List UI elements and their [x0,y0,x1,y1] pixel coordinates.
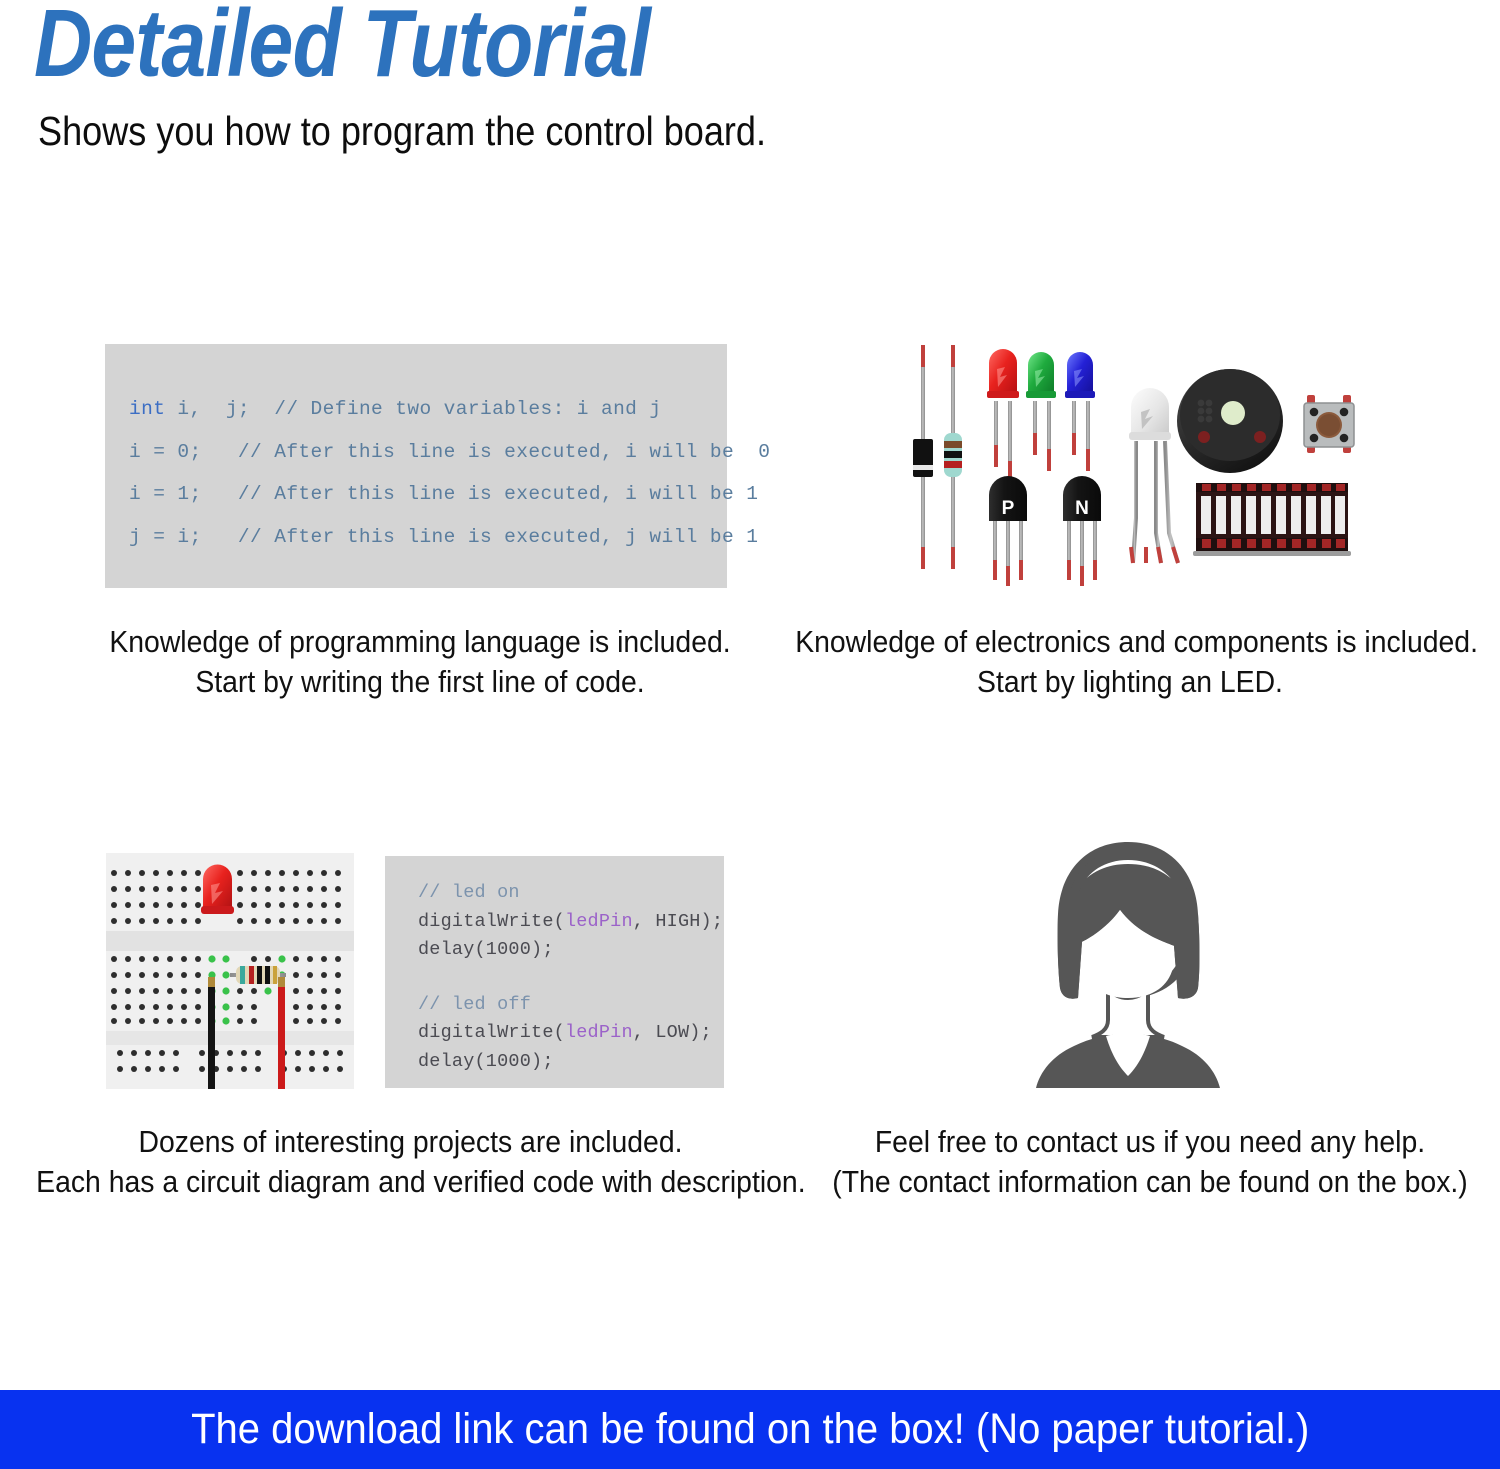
code-line: int i, j; // Define two variables: i and… [129,388,727,431]
code-line: // led on [418,879,724,908]
code-line: delay(1000); [418,1048,724,1077]
transistor-label-n: N [1075,498,1089,519]
caption-support: Feel free to contact us if you need any … [805,1122,1495,1202]
red-jumper-wire [278,977,285,1089]
download-link-banner: The download link can be found on the bo… [0,1390,1500,1469]
blue-led-icon [1065,352,1095,471]
pnp-transistor-icon: P [989,476,1027,586]
code-text: , LOW); [633,1022,712,1043]
caption-line: Knowledge of programming language is inc… [85,622,755,662]
code-text: delay(1000); [418,939,554,960]
code-line: // led off [418,991,724,1020]
caption-line: Dozens of interesting projects are inclu… [36,1122,785,1162]
caption-line: Feel free to contact us if you need any … [829,1122,1471,1162]
led-bar-graph-icon [1193,483,1351,556]
code-line: digitalWrite(ledPin, HIGH); [418,908,724,937]
breadboard-red-led-icon [201,865,234,915]
code-variable: ledPin [565,1022,633,1043]
caption-line: Each has a circuit diagram and verified … [36,1162,785,1202]
code-comment: // led on [418,882,520,903]
caption-line: (The contact information can be found on… [829,1162,1471,1202]
resistor-icon [944,345,962,569]
code-text: i = 1; // After this line is executed, i… [129,483,758,505]
download-banner-text: The download link can be found on the bo… [191,1405,1309,1454]
code-text: j = i; // After this line is executed, j… [129,526,758,548]
page-subtitle: Shows you how to program the control boa… [38,108,766,155]
caption-line: Knowledge of electronics and components … [795,622,1465,662]
code-line: digitalWrite(ledPin, LOW); [418,1019,724,1048]
transistor-label-p: P [1002,498,1015,519]
caption-electronics: Knowledge of electronics and components … [770,622,1490,702]
code-keyword: int [129,398,165,420]
caption-projects: Dozens of interesting projects are inclu… [8,1122,813,1202]
code-text: , HIGH); [633,911,723,932]
caption-line: Start by lighting an LED. [795,662,1465,702]
caption-line: Start by writing the first line of code. [85,662,755,702]
code-text: digitalWrite( [418,911,565,932]
code-text: digitalWrite( [418,1022,565,1043]
breadboard-led-circuit-photo [106,853,354,1089]
buzzer-icon [1177,369,1283,473]
code-text: i = 0; // After this line is executed, i… [129,441,770,463]
code-blank-line [418,965,724,991]
diode-icon [913,345,933,569]
breadboard-resistor-icon [230,966,286,984]
caption-programming: Knowledge of programming language is inc… [60,622,780,702]
code-comment: // led off [418,994,531,1015]
npn-transistor-icon: N [1063,476,1101,586]
tactile-button-icon [1304,395,1354,453]
customer-support-avatar [1008,838,1248,1090]
red-led-icon [987,349,1019,483]
code-variable: ledPin [565,911,633,932]
code-line: i = 1; // After this line is executed, i… [129,473,727,516]
green-led-icon [1026,352,1056,471]
rgb-led-icon [1129,388,1178,563]
page-title: Detailed Tutorial [34,0,650,95]
code-line: i = 0; // After this line is executed, i… [129,431,727,474]
electronic-components-photo: P N [893,333,1363,591]
variables-example-code-block: int i, j; // Define two variables: i and… [105,344,727,588]
code-line: delay(1000); [418,936,724,965]
led-blink-code-block: // led on digitalWrite(ledPin, HIGH); de… [385,856,724,1088]
code-text: i, j; // Define two variables: i and j [165,398,661,420]
code-text: delay(1000); [418,1051,554,1072]
black-jumper-wire [208,977,215,1089]
code-line: j = i; // After this line is executed, j… [129,516,727,559]
